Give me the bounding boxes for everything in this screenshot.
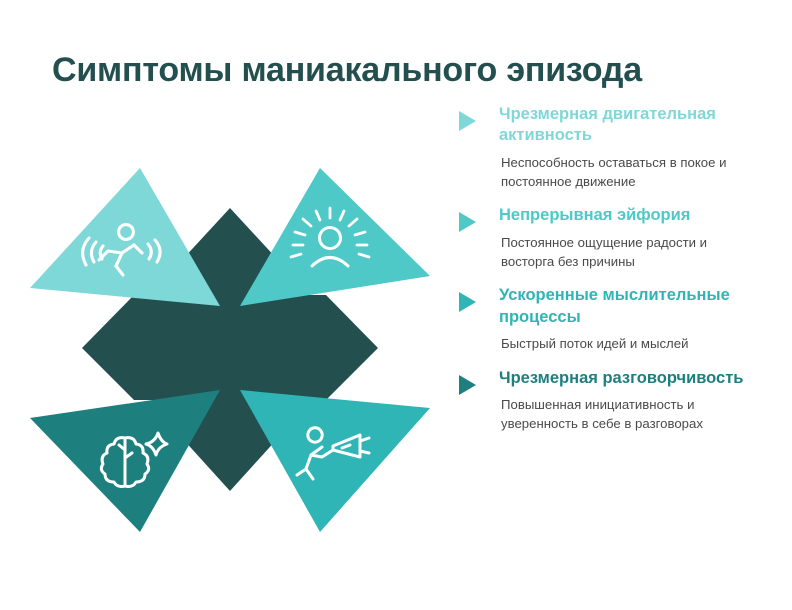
symptom-heading: Чрезмерная разговорчивость: [499, 368, 759, 389]
symptom-description: Повышенная инициативность и уверенность …: [499, 396, 759, 433]
symptom-heading: Ускоренные мыслительные процессы: [499, 285, 759, 328]
triangle-marker-icon: [459, 375, 476, 395]
wedge-bottom-right-shape: [240, 390, 430, 532]
wedge-top-left-shape: [30, 168, 220, 306]
symptom-description: Быстрый поток идей и мыслей: [499, 335, 759, 354]
wedge-bottom-right: [240, 390, 430, 532]
symptom-item-1: Чрезмерная двигательная активность Неспо…: [459, 104, 759, 191]
symptom-item-3: Ускоренные мыслительные процессы Быстрый…: [459, 285, 759, 354]
wedge-top-left: [30, 168, 220, 306]
wedge-top-right: [240, 168, 430, 306]
wedge-top-right-shape: [240, 168, 430, 306]
symptom-item-2: Непрерывная эйфория Постоянное ощущение …: [459, 205, 759, 271]
symptom-description: Неспособность оставаться в покое и посто…: [499, 154, 759, 191]
symptom-item-4: Чрезмерная разговорчивость Повышенная ин…: [459, 368, 759, 434]
symptom-list: Чрезмерная двигательная активность Неспо…: [459, 104, 759, 448]
wedge-bottom-left: [30, 390, 220, 532]
page-title: Симптомы маниакального эпизода: [52, 51, 772, 90]
graphic-svg: [30, 150, 430, 550]
central-graphic: [30, 150, 430, 550]
symptom-description: Постоянное ощущение радости и восторга б…: [499, 234, 759, 271]
triangle-marker-icon: [459, 292, 476, 312]
triangle-marker-icon: [459, 111, 476, 131]
symptom-heading: Непрерывная эйфория: [499, 205, 759, 226]
triangle-marker-icon: [459, 212, 476, 232]
infographic-root: Симптомы маниакального эпизода: [0, 0, 792, 610]
symptom-heading: Чрезмерная двигательная активность: [499, 104, 759, 147]
